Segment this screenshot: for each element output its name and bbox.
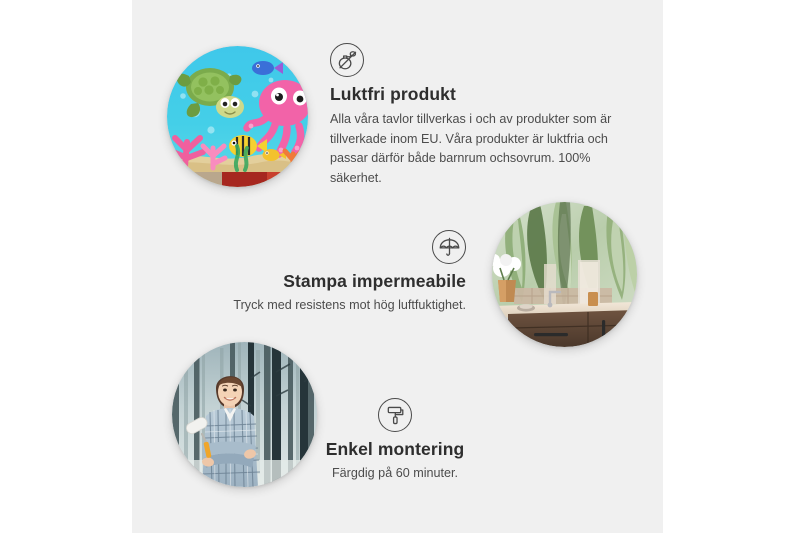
feature-title: Luktfri produkt [330, 84, 620, 105]
umbrella-icon [432, 230, 466, 264]
promo-graphic: Luktfri produkt Alla våra tavlor tillver… [0, 0, 800, 533]
paint-roller-icon [378, 398, 412, 432]
feature-easy-mounting: Enkel montering Färgdig på 60 minuter. [300, 398, 490, 484]
feature-title: Stampa impermeabile [190, 271, 466, 292]
photo-underwater-scene [167, 46, 308, 187]
feature-title: Enkel montering [300, 439, 490, 460]
photo-woman-with-paint-roller [172, 342, 317, 487]
photo-bathroom-botanical-wallpaper [492, 202, 637, 347]
feature-description: Tryck med resistens mot hög luftfuktighe… [190, 296, 466, 316]
feature-description: Färgdig på 60 minuter. [300, 464, 490, 484]
feature-odour-free: Luktfri produkt Alla våra tavlor tillver… [330, 43, 620, 188]
feature-description: Alla våra tavlor tillverkas i och av pro… [330, 110, 620, 188]
no-odour-perfume-bottle-icon [330, 43, 364, 77]
feature-waterproof-print: Stampa impermeabile Tryck med resistens … [190, 230, 466, 316]
